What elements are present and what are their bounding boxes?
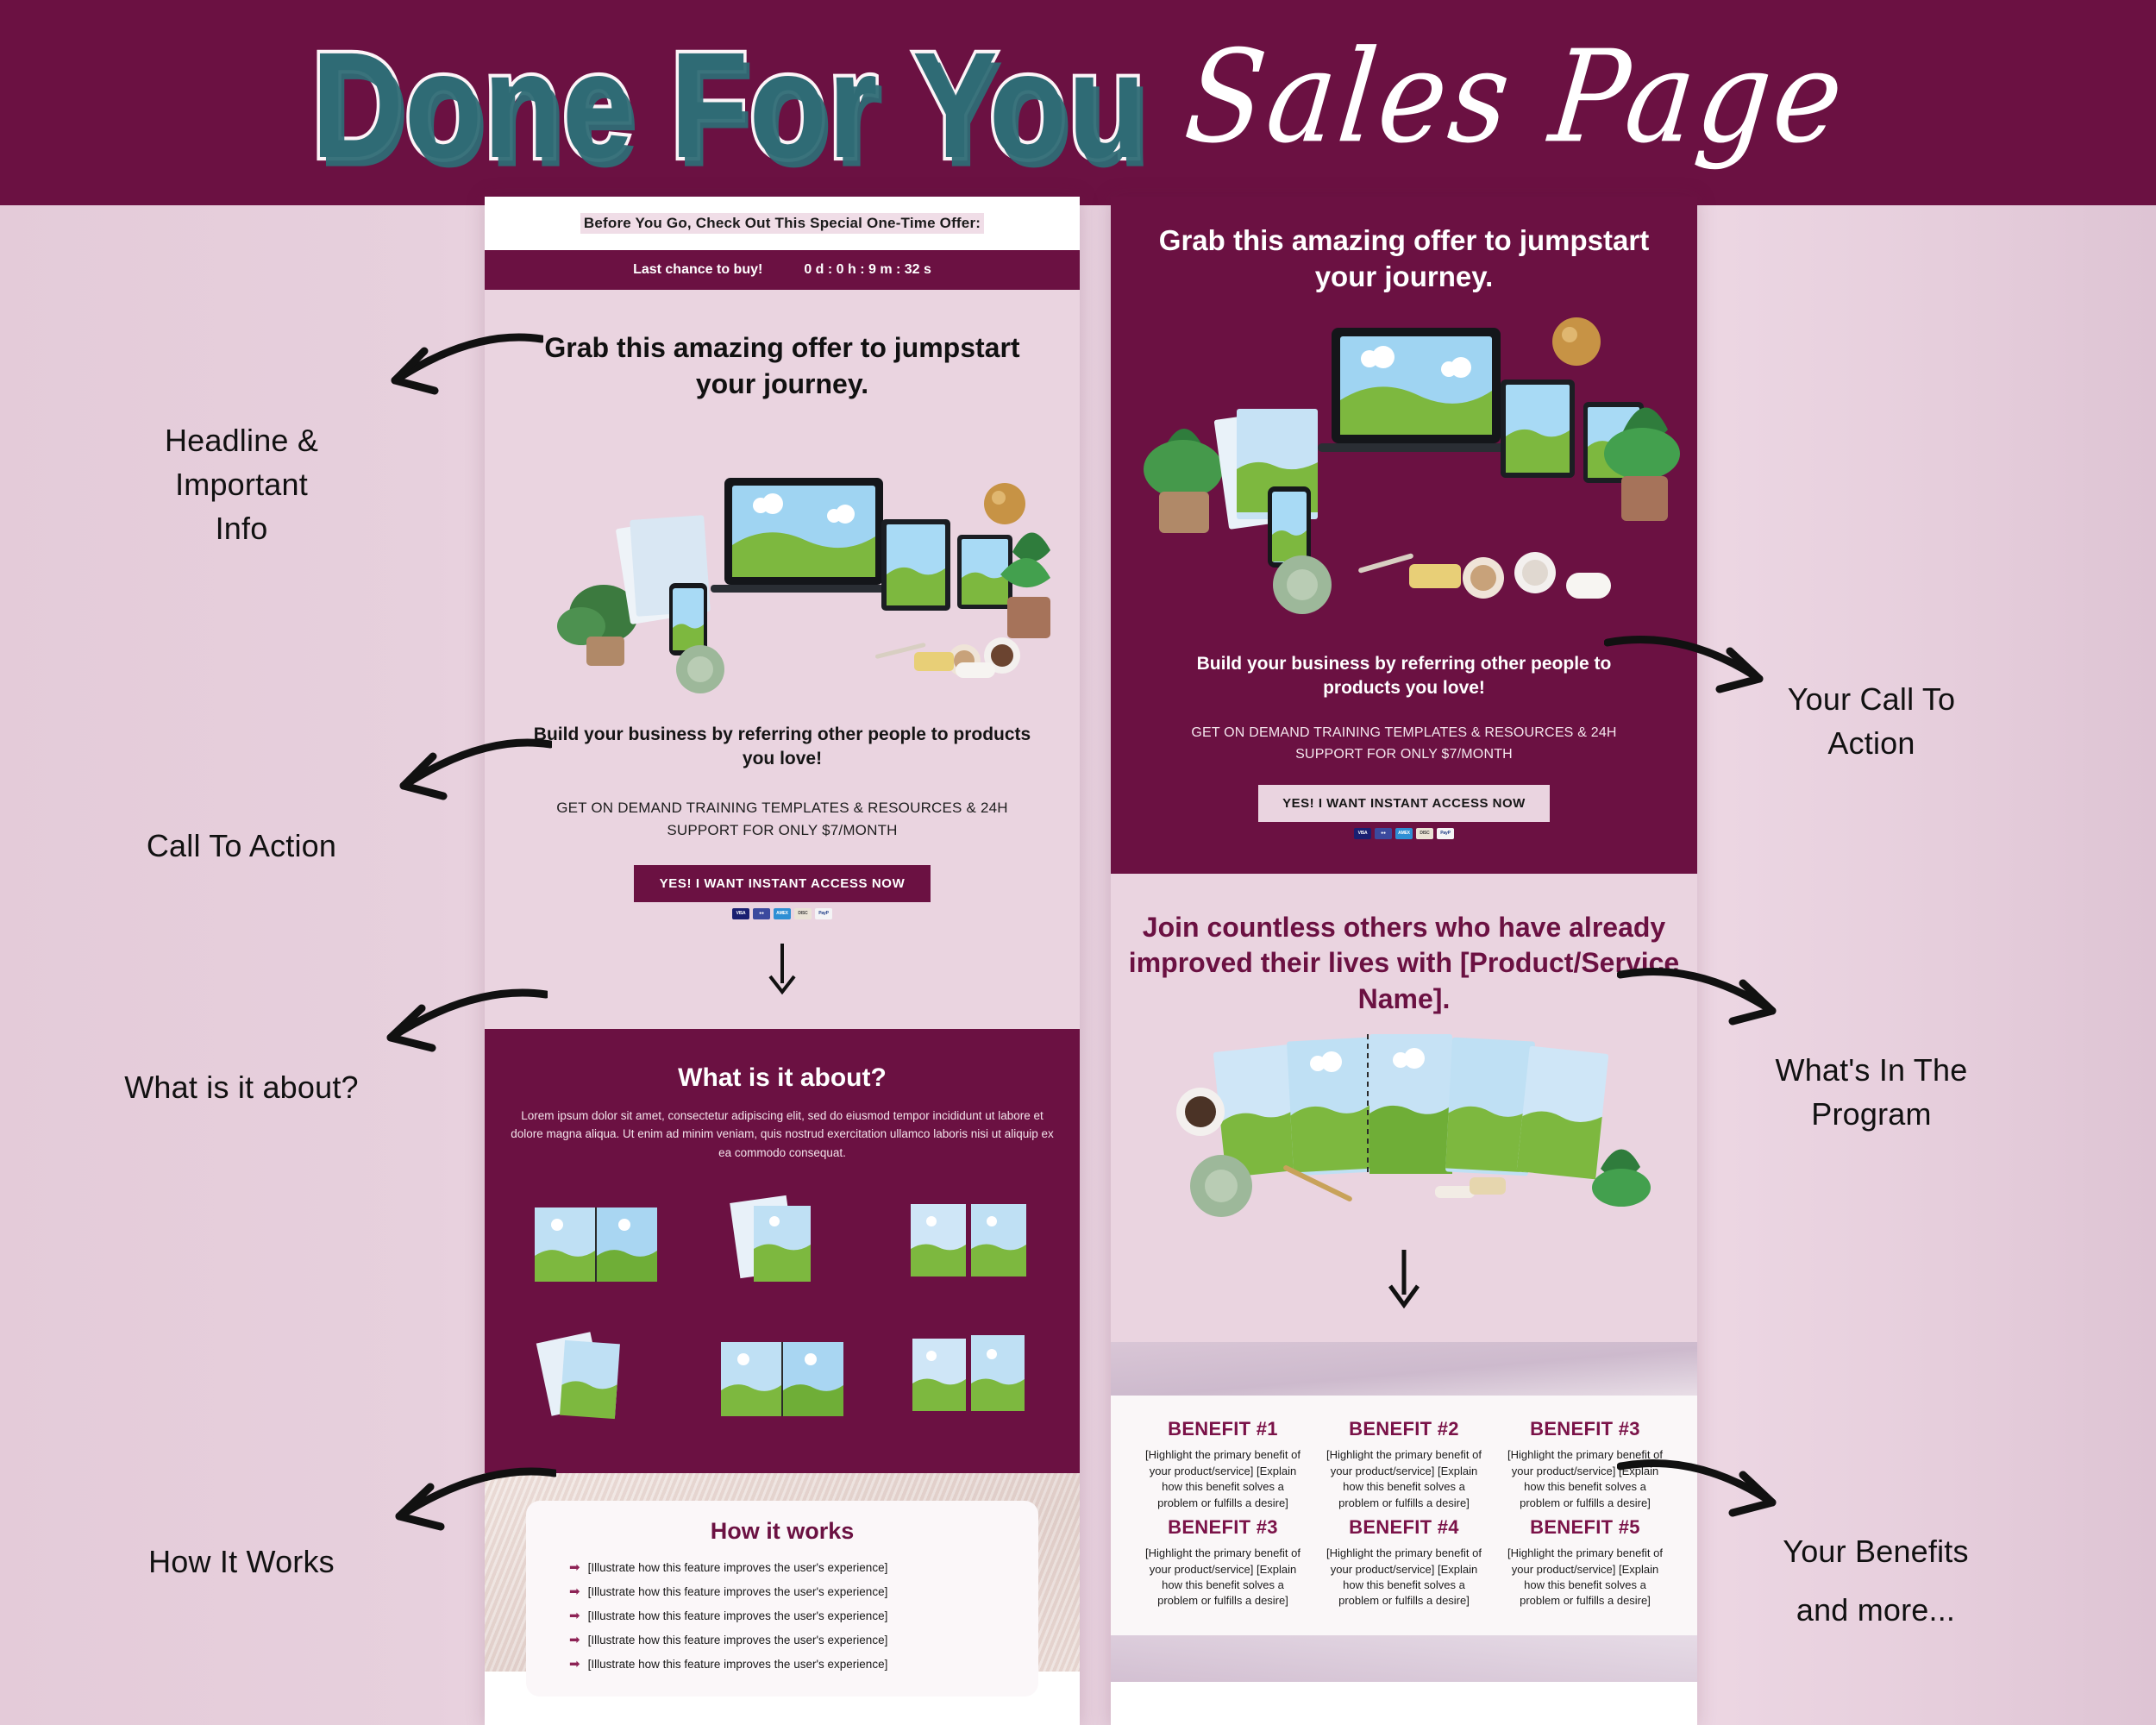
right-benefits-section: BENEFIT #1[Highlight the primary benefit… (1111, 1342, 1697, 1635)
how-it-works-item: ➡[Illustrate how this feature improves t… (545, 1579, 1019, 1603)
benefit-title: BENEFIT #3 (1140, 1516, 1306, 1539)
arrow-right-icon: ➡ (569, 1658, 580, 1671)
arrow-right-icon: ➡ (569, 1634, 580, 1647)
benefit-body: [Highlight the primary benefit of your p… (1140, 1447, 1306, 1511)
annotation-your-benefits: Your Benefits and more... (1720, 1522, 2031, 1640)
book-thumb (507, 1192, 685, 1295)
annotation-line: What is it about? (78, 1065, 405, 1109)
how-it-works-title: How it works (545, 1518, 1019, 1545)
arrow-to-headline (345, 332, 543, 427)
arrow-right-icon: ➡ (569, 1609, 580, 1622)
benefit-title: BENEFIT #3 (1502, 1418, 1668, 1440)
right-journal-spread-image (1111, 1017, 1697, 1233)
right-scroll-arrow (1111, 1233, 1697, 1342)
page-title-banner: Done For You Sales Page (0, 0, 2156, 205)
how-it-works-item-label: [Illustrate how this feature improves th… (588, 1561, 888, 1574)
benefits-grid: BENEFIT #1[Highlight the primary benefit… (1111, 1396, 1697, 1618)
benefits-top-gradient (1111, 1342, 1697, 1396)
annotation-call-to-action: Call To Action (95, 824, 388, 868)
visa-icon: VISA (732, 908, 749, 919)
annotation-line: and more... (1720, 1581, 2031, 1640)
left-countdown-timer: 0 d : 0 h : 9 m : 32 s (804, 262, 931, 278)
benefit-body: [Highlight the primary benefit of your p… (1321, 1447, 1487, 1511)
left-book-grid (485, 1163, 1080, 1435)
benefit-title: BENEFIT #1 (1140, 1418, 1306, 1440)
left-product-mockup-image (485, 414, 1080, 699)
banner-title-sales-page: Sales Page (1179, 23, 1852, 172)
annotation-line: Your Benefits (1720, 1522, 2031, 1581)
right-bottom-gradient (1111, 1635, 1697, 1682)
right-payment-icons: VISA ●● AMEX DISC PayP (1111, 828, 1697, 839)
benefit-title: BENEFIT #2 (1321, 1418, 1487, 1440)
paypal-icon: PayP (1437, 828, 1454, 839)
right-headline: Grab this amazing offer to jumpstart you… (1111, 223, 1697, 295)
left-headline: Grab this amazing offer to jumpstart you… (485, 329, 1080, 402)
annotation-line: Important (112, 462, 371, 506)
benefit-body: [Highlight the primary benefit of your p… (1140, 1546, 1306, 1609)
benefit-card: BENEFIT #2[Highlight the primary benefit… (1321, 1418, 1487, 1511)
annotation-line: What's In The (1720, 1048, 2022, 1092)
left-topbar: Before You Go, Check Out This Special On… (485, 197, 1080, 250)
right-cta-wrap: YES! I WANT INSTANT ACCESS NOW VISA ●● A… (1111, 766, 1697, 874)
annotation-line: How It Works (91, 1540, 392, 1584)
open-book-icon (693, 1327, 871, 1430)
left-about-body: Lorem ipsum dolor sit amet, consectetur … (485, 1093, 1080, 1164)
annotation-line: Action (1725, 721, 2018, 765)
left-cta-wrap: YES! I WANT INSTANT ACCESS NOW VISA ●● A… (485, 843, 1080, 926)
how-it-works-item: ➡[Illustrate how this feature improves t… (545, 1652, 1019, 1676)
book-thumb (693, 1192, 871, 1295)
annotation-how-it-works: How It Works (91, 1540, 392, 1584)
book-thumb (693, 1327, 871, 1430)
left-topbar-text: Before You Go, Check Out This Special On… (580, 213, 984, 234)
how-it-works-item-label: [Illustrate how this feature improves th… (588, 1609, 888, 1622)
book-thumb (880, 1327, 1057, 1430)
annotation-line: Your Call To (1725, 677, 2018, 721)
tilted-sheets-icon (507, 1327, 685, 1430)
mastercard-icon: ●● (753, 908, 770, 919)
arrow-to-program (1617, 966, 1824, 1061)
annotation-line: Program (1720, 1092, 2022, 1136)
left-countdown-label: Last chance to buy! (633, 262, 762, 278)
left-how-it-works-section: How it works ➡[Illustrate how this featu… (485, 1473, 1080, 1672)
right-join-section: Join countless others who have already i… (1111, 874, 1697, 1018)
stacked-sheets-icon (693, 1192, 871, 1295)
paypal-icon: PayP (815, 908, 832, 919)
annotation-what-is-it-about: What is it about? (78, 1065, 405, 1109)
annotation-whats-in-the-program: What's In The Program (1720, 1048, 2022, 1136)
how-it-works-item-label: [Illustrate how this feature improves th… (588, 1585, 888, 1598)
arrow-down-icon (1387, 1248, 1421, 1308)
discover-icon: DISC (794, 908, 812, 919)
arrow-down-icon (767, 942, 798, 995)
benefit-card: BENEFIT #1[Highlight the primary benefit… (1140, 1418, 1306, 1511)
right-cta-button[interactable]: YES! I WANT INSTANT ACCESS NOW (1258, 785, 1550, 822)
sheet-pair-icon (880, 1327, 1057, 1430)
how-it-works-list: ➡[Illustrate how this feature improves t… (545, 1555, 1019, 1676)
left-scroll-arrow (485, 926, 1080, 1029)
annotation-line: Headline & (112, 418, 371, 462)
visa-icon: VISA (1354, 828, 1371, 839)
book-thumb (880, 1192, 1057, 1295)
left-countdown-bar: Last chance to buy! 0 d : 0 h : 9 m : 32… (485, 250, 1080, 290)
left-price-line: GET ON DEMAND TRAINING TEMPLATES & RESOU… (485, 771, 1080, 843)
annotation-line: Info (112, 506, 371, 550)
annotation-headline-important-info: Headline & Important Info (112, 418, 371, 550)
left-cta-button[interactable]: YES! I WANT INSTANT ACCESS NOW (634, 865, 931, 902)
device-collection-illustration (1111, 300, 1697, 645)
how-it-works-item-label: [Illustrate how this feature improves th… (588, 1658, 888, 1671)
device-collection-illustration (485, 414, 1080, 699)
annotation-your-call-to-action: Your Call To Action (1725, 677, 2018, 765)
left-subheadline: Build your business by referring other p… (485, 707, 1080, 770)
banner-title-done-for-you: Done For You (311, 20, 1147, 193)
how-it-works-item: ➡[Illustrate how this feature improves t… (545, 1603, 1019, 1628)
how-it-works-item-label: [Illustrate how this feature improves th… (588, 1634, 888, 1647)
right-hero-section: Grab this amazing offer to jumpstart you… (1111, 197, 1697, 645)
arrow-to-cta (354, 737, 552, 832)
arrow-right-icon: ➡ (569, 1585, 580, 1598)
how-it-works-item: ➡[Illustrate how this feature improves t… (545, 1555, 1019, 1579)
right-sales-page-mockup[interactable]: Grab this amazing offer to jumpstart you… (1111, 197, 1697, 1725)
left-about-section: What is it about? Lorem ipsum dolor sit … (485, 1029, 1080, 1474)
journal-fan-illustration (1111, 1017, 1697, 1233)
amex-icon: AMEX (774, 908, 791, 919)
how-it-works-card: How it works ➡[Illustrate how this featu… (526, 1501, 1038, 1697)
benefit-card: BENEFIT #3[Highlight the primary benefit… (1140, 1516, 1306, 1609)
right-product-mockup-image (1111, 300, 1697, 645)
right-join-headline: Join countless others who have already i… (1111, 910, 1697, 1018)
sheet-pair-icon (880, 1192, 1057, 1295)
arrow-right-icon: ➡ (569, 1561, 580, 1574)
benefit-card: BENEFIT #4[Highlight the primary benefit… (1321, 1516, 1487, 1609)
how-it-works-item: ➡[Illustrate how this feature improves t… (545, 1628, 1019, 1652)
left-sales-page-mockup[interactable]: Before You Go, Check Out This Special On… (485, 197, 1080, 1725)
benefit-body: [Highlight the primary benefit of your p… (1321, 1546, 1487, 1609)
open-book-icon (507, 1192, 685, 1295)
mastercard-icon: ●● (1375, 828, 1392, 839)
annotation-line: Call To Action (95, 824, 388, 868)
left-payment-icons: VISA ●● AMEX DISC PayP (485, 908, 1080, 919)
left-about-title: What is it about? (485, 1063, 1080, 1093)
benefit-title: BENEFIT #4 (1321, 1516, 1487, 1539)
left-hero-section: Grab this amazing offer to jumpstart you… (485, 290, 1080, 707)
discover-icon: DISC (1416, 828, 1433, 839)
book-thumb (507, 1327, 685, 1430)
amex-icon: AMEX (1395, 828, 1413, 839)
benefit-body: [Highlight the primary benefit of your p… (1502, 1546, 1668, 1609)
